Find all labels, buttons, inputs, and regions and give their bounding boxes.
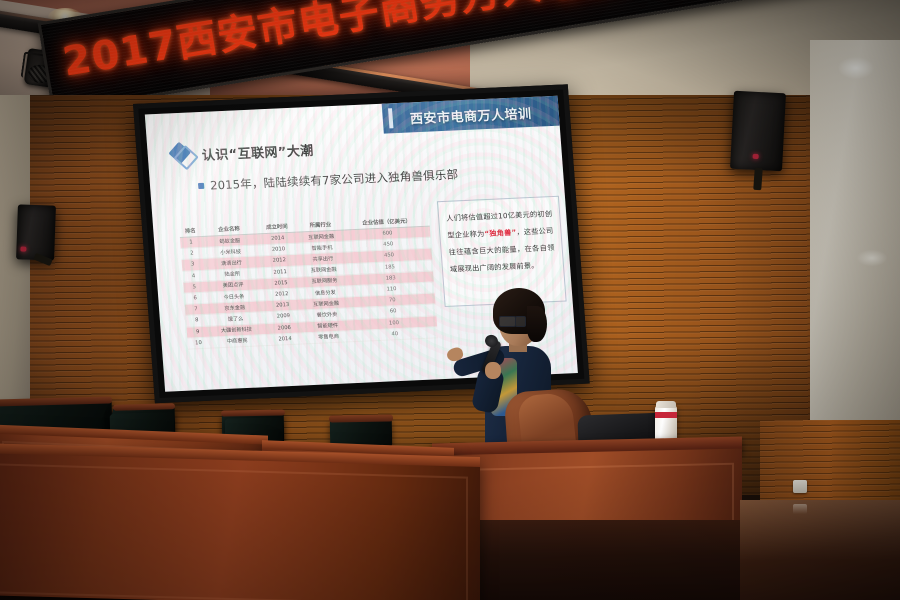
presenter-hand-holding-mic: [485, 362, 501, 379]
slide-top-banner: 西安市电商万人培训: [382, 96, 560, 134]
speaker-bracket-right: [753, 168, 763, 191]
table-column-header: 排名: [179, 224, 202, 237]
slide-banner-label: 西安市电商万人培训: [409, 102, 532, 126]
front-desk-inset: [0, 463, 468, 600]
presenter-hair-side: [527, 306, 547, 342]
floor-reflection: [740, 500, 900, 600]
slide-banner-accent-bar: [388, 108, 393, 128]
wall-outlet: [793, 480, 807, 493]
table-cell: 10: [187, 337, 209, 349]
thermos-red-band: [655, 412, 677, 418]
glasses-lens-right: [515, 316, 526, 327]
table-body: 1蚂蚁金服2014互联网金融6002小米科技2010智能手机4503滴滴出行20…: [180, 226, 438, 349]
chair-top-rail: [221, 409, 285, 416]
table-cell: 零售电商: [305, 330, 353, 343]
slide-bullet-text: 2015年，陆陆续续有7家公司进入独角兽俱乐部: [210, 166, 459, 193]
slide-callout-text: 人们将估值超过10亿美元的初创型企业称为“独角兽”，这些公司往往蕴含巨大的能量，…: [446, 205, 557, 278]
slide-bullet-item: 2015年，陆陆续续有7家公司进入独角兽俱乐部: [198, 166, 459, 194]
chair-top-rail: [329, 414, 393, 422]
table-cell: 40: [352, 327, 438, 342]
slide-heading: 认识“互联网”大潮: [201, 139, 314, 163]
unicorn-company-table: 排名企业名称成立时间所属行业企业估值（亿美元） 1蚂蚁金服2014互联网金融60…: [179, 214, 438, 350]
bullet-dot-icon: [198, 183, 204, 189]
table-cell: 中商惠民: [209, 334, 266, 348]
lecture-hall-photo: 2017西安市电子商务万人培训（电子工程学院） 西安市电商万人培训 认识“互联网…: [0, 0, 900, 600]
callout-highlight: “独角兽”: [484, 228, 517, 238]
slide-heading-group: 认识“互联网”大潮: [169, 137, 314, 167]
glasses-icon: [499, 316, 516, 327]
wall-outlet-reflection: [793, 504, 807, 514]
thermos-cap: [656, 401, 676, 408]
wall-speaker-right: [730, 91, 786, 172]
table-cell: 2014: [265, 333, 306, 346]
diamond-logo-icon: [169, 142, 195, 167]
